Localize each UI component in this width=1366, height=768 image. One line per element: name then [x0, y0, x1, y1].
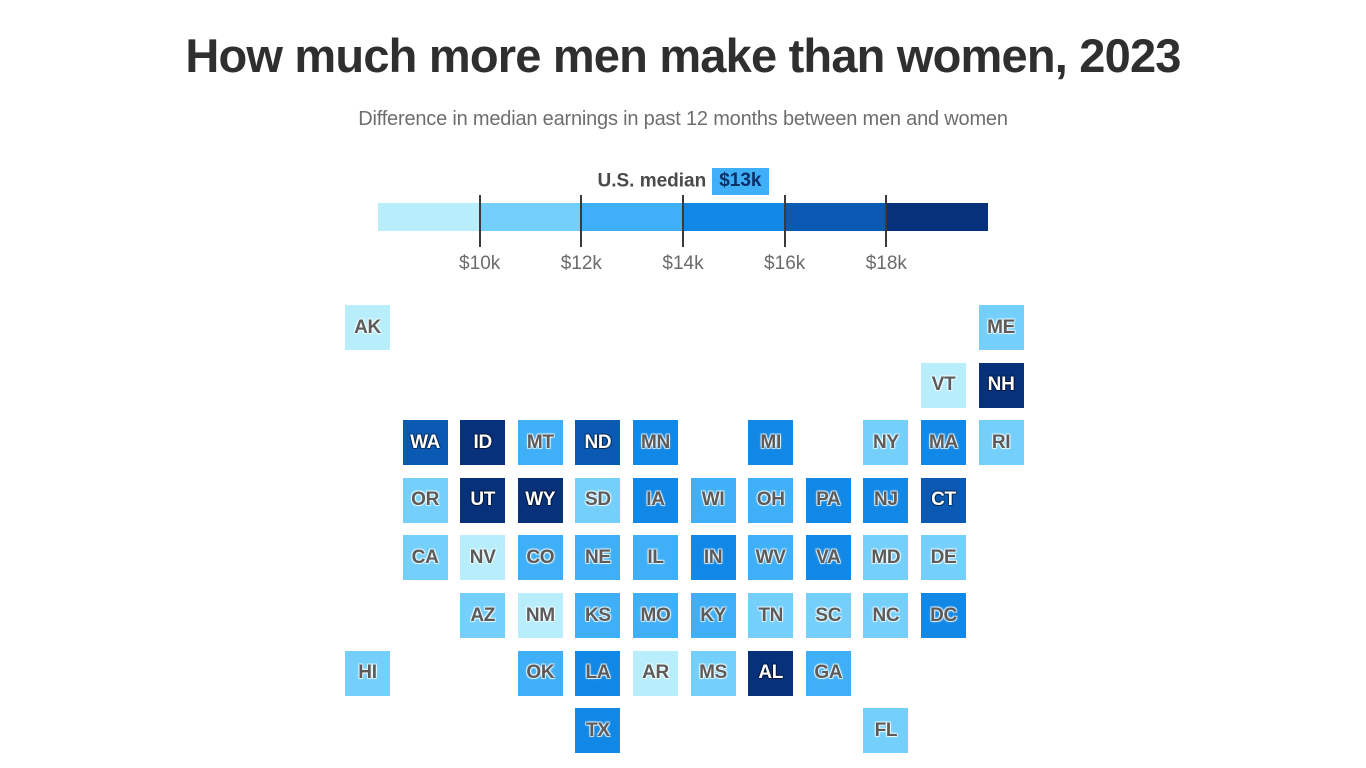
legend-gradient-bar: [378, 203, 988, 231]
state-tile-nd[interactable]: ND: [575, 420, 620, 465]
state-tile-ri[interactable]: RI: [979, 420, 1024, 465]
state-tile-label: OK: [526, 662, 554, 684]
state-tile-tn[interactable]: TN: [748, 593, 793, 638]
state-tile-label: WY: [525, 489, 555, 511]
state-tile-mi[interactable]: MI: [748, 420, 793, 465]
state-tile-label: ID: [473, 432, 491, 454]
state-tile-label: IN: [704, 547, 722, 569]
state-tile-mo[interactable]: MO: [633, 593, 678, 638]
state-tile-label: WA: [410, 432, 440, 454]
state-tile-ak[interactable]: AK: [345, 305, 390, 350]
state-tile-label: IA: [646, 489, 664, 511]
state-tile-wv[interactable]: WV: [748, 535, 793, 580]
state-tile-label: AZ: [470, 605, 495, 627]
state-tile-ny[interactable]: NY: [863, 420, 908, 465]
state-tile-label: VA: [816, 547, 840, 569]
state-tile-ne[interactable]: NE: [575, 535, 620, 580]
state-tile-label: MO: [640, 605, 670, 627]
state-tile-label: NY: [873, 432, 899, 454]
state-tile-al[interactable]: AL: [748, 651, 793, 696]
state-tile-nh[interactable]: NH: [979, 363, 1024, 408]
state-tile-label: RI: [992, 432, 1010, 454]
state-tile-oh[interactable]: OH: [748, 478, 793, 523]
state-tile-nc[interactable]: NC: [863, 593, 908, 638]
state-tile-hi[interactable]: HI: [345, 651, 390, 696]
state-tile-sd[interactable]: SD: [575, 478, 620, 523]
state-tile-label: IL: [647, 547, 663, 569]
state-tile-ks[interactable]: KS: [575, 593, 620, 638]
state-tile-me[interactable]: ME: [979, 305, 1024, 350]
state-tile-or[interactable]: OR: [403, 478, 448, 523]
state-tile-label: MI: [760, 432, 781, 454]
state-tile-ut[interactable]: UT: [460, 478, 505, 523]
state-tile-label: HI: [358, 662, 376, 684]
state-tile-label: WI: [702, 489, 725, 511]
legend-band-3: [581, 203, 683, 231]
state-tile-ar[interactable]: AR: [633, 651, 678, 696]
state-tile-ma[interactable]: MA: [921, 420, 966, 465]
legend-band-6: [886, 203, 988, 231]
state-tile-ga[interactable]: GA: [806, 651, 851, 696]
legend-tick-label-16k: $16k: [764, 253, 805, 275]
state-tile-mn[interactable]: MN: [633, 420, 678, 465]
state-tile-nv[interactable]: NV: [460, 535, 505, 580]
state-tile-label: NJ: [874, 489, 898, 511]
legend-tick-label-10k: $10k: [459, 253, 500, 275]
state-tile-ct[interactable]: CT: [921, 478, 966, 523]
state-tile-wi[interactable]: WI: [691, 478, 736, 523]
state-tile-grid: AKMEVTNHWAIDMTNDMNMINYMARIORUTWYSDIAWIOH…: [345, 305, 1025, 755]
state-tile-label: OR: [411, 489, 439, 511]
color-legend: U.S. median$13k $10k$12k$14k$16k$18k: [378, 203, 988, 231]
state-tile-id[interactable]: ID: [460, 420, 505, 465]
state-tile-label: TN: [758, 605, 783, 627]
state-tile-tx[interactable]: TX: [575, 708, 620, 753]
state-tile-label: AR: [642, 662, 669, 684]
legend-tick-label-12k: $12k: [561, 253, 602, 275]
page-title: How much more men make than women, 2023: [0, 30, 1366, 82]
legend-tick-label-18k: $18k: [866, 253, 907, 275]
state-tile-il[interactable]: IL: [633, 535, 678, 580]
legend-band-5: [785, 203, 887, 231]
state-tile-label: NC: [872, 605, 899, 627]
chart-subtitle: Difference in median earnings in past 12…: [0, 108, 1366, 131]
state-tile-label: NM: [526, 605, 555, 627]
state-tile-label: OH: [757, 489, 785, 511]
state-tile-label: MN: [641, 432, 670, 454]
state-tile-label: MA: [929, 432, 958, 454]
state-tile-label: SC: [815, 605, 841, 627]
state-tile-nj[interactable]: NJ: [863, 478, 908, 523]
state-tile-de[interactable]: DE: [921, 535, 966, 580]
state-tile-label: DC: [930, 605, 957, 627]
state-tile-label: CT: [931, 489, 956, 511]
state-tile-va[interactable]: VA: [806, 535, 851, 580]
state-tile-wa[interactable]: WA: [403, 420, 448, 465]
state-tile-label: ND: [584, 432, 611, 454]
legend-band-4: [683, 203, 785, 231]
state-tile-dc[interactable]: DC: [921, 593, 966, 638]
state-tile-label: SD: [585, 489, 611, 511]
state-tile-label: NE: [585, 547, 611, 569]
state-tile-label: NV: [470, 547, 496, 569]
state-tile-fl[interactable]: FL: [863, 708, 908, 753]
state-tile-ia[interactable]: IA: [633, 478, 678, 523]
state-tile-wy[interactable]: WY: [518, 478, 563, 523]
state-tile-label: CA: [412, 547, 439, 569]
state-tile-label: TX: [586, 720, 610, 742]
us-median-value-badge: $13k: [712, 168, 768, 195]
state-tile-vt[interactable]: VT: [921, 363, 966, 408]
state-tile-label: FL: [875, 720, 898, 742]
state-tile-pa[interactable]: PA: [806, 478, 851, 523]
state-tile-label: CO: [526, 547, 554, 569]
state-tile-mt[interactable]: MT: [518, 420, 563, 465]
state-tile-label: ME: [987, 317, 1015, 339]
state-tile-nm[interactable]: NM: [518, 593, 563, 638]
state-tile-label: KY: [700, 605, 726, 627]
state-tile-label: GA: [814, 662, 842, 684]
state-tile-label: KS: [585, 605, 611, 627]
state-tile-co[interactable]: CO: [518, 535, 563, 580]
state-tile-label: MS: [699, 662, 727, 684]
legend-band-1: [378, 203, 480, 231]
us-median-label: U.S. median: [597, 170, 706, 191]
chart-header: How much more men make than women, 2023 …: [0, 0, 1366, 131]
state-tile-ms[interactable]: MS: [691, 651, 736, 696]
state-tile-ok[interactable]: OK: [518, 651, 563, 696]
legend-tick-labels: $10k$12k$14k$16k$18k: [378, 253, 988, 281]
legend-band-2: [480, 203, 582, 231]
us-median-annotation: U.S. median$13k: [378, 168, 988, 195]
state-tile-sc[interactable]: SC: [806, 593, 851, 638]
state-tile-ky[interactable]: KY: [691, 593, 736, 638]
state-tile-label: NH: [988, 374, 1015, 396]
state-tile-label: MT: [527, 432, 554, 454]
state-tile-md[interactable]: MD: [863, 535, 908, 580]
state-tile-la[interactable]: LA: [575, 651, 620, 696]
state-tile-label: LA: [586, 662, 611, 684]
state-tile-in[interactable]: IN: [691, 535, 736, 580]
state-tile-label: WV: [756, 547, 786, 569]
state-tile-label: MD: [871, 547, 900, 569]
state-tile-az[interactable]: AZ: [460, 593, 505, 638]
legend-tick-label-14k: $14k: [662, 253, 703, 275]
state-tile-label: UT: [470, 489, 495, 511]
state-tile-label: PA: [816, 489, 840, 511]
state-tile-label: VT: [932, 374, 956, 396]
state-tile-label: AK: [354, 317, 381, 339]
state-tile-label: AL: [758, 662, 783, 684]
state-tile-ca[interactable]: CA: [403, 535, 448, 580]
state-tile-label: DE: [931, 547, 957, 569]
